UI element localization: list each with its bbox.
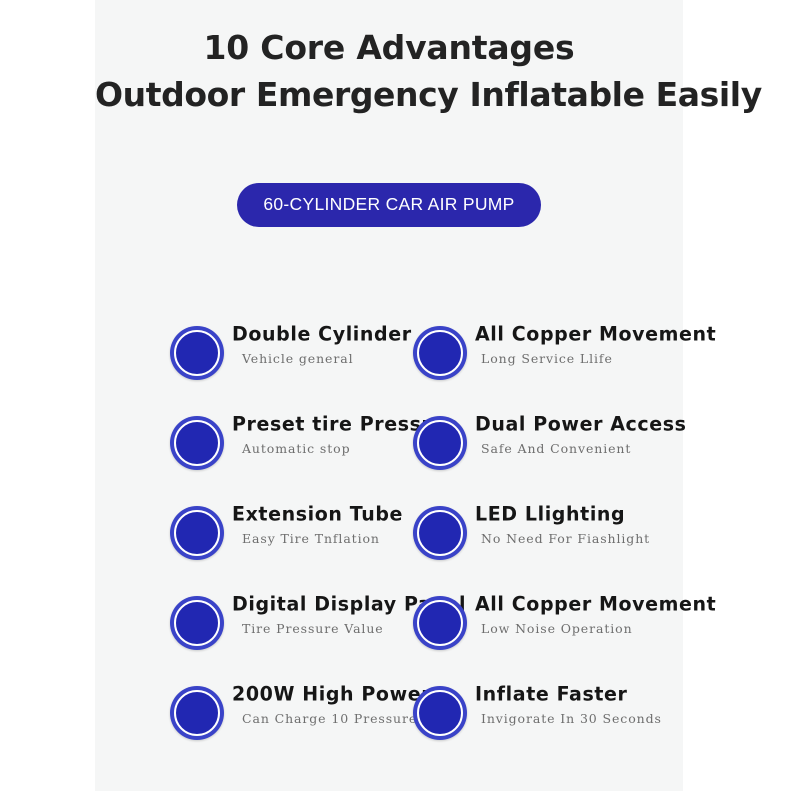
bullet-circle-icon [413,596,467,650]
feature-text-group: All Copper Movement Low Noise Operation [475,592,735,639]
bullet-circle-icon [170,326,224,380]
bullet-circle-icon [170,506,224,560]
content-panel: 10 Core Advantages Outdoor Emergency Inf… [95,0,683,791]
feature-row: 200W High Power Can Charge 10 Pressures … [95,682,683,772]
feature-title: LED Llighting [475,502,735,527]
feature-text-group: Inflate Faster Invigorate In 30 Seconds [475,682,735,729]
feature-row: Preset tire Pressure Automatic stop Dual… [95,412,683,502]
feature-subtitle: Safe And Convenient [475,439,735,459]
feature-title: All Copper Movement [475,592,735,617]
feature-row: Extension Tube Easy Tire Tnflation LED L… [95,502,683,592]
heading-line-1: 10 Core Advantages [95,26,683,70]
bullet-circle-icon [413,326,467,380]
bullet-circle-icon [413,686,467,740]
feature-title: Dual Power Access [475,412,735,437]
product-badge-container: 60-CYLINDER CAR AIR PUMP [95,183,683,227]
feature-subtitle: Invigorate In 30 Seconds [475,709,735,729]
product-badge: 60-CYLINDER CAR AIR PUMP [237,183,540,227]
feature-text-group: Dual Power Access Safe And Convenient [475,412,735,459]
feature-text-group: All Copper Movement Long Service Llife [475,322,735,369]
heading-line-2: Outdoor Emergency Inflatable Easily [95,70,683,120]
feature-item: All Copper Movement Low Noise Operation [413,592,713,682]
product-infographic-page: 10 Core Advantages Outdoor Emergency Inf… [0,0,800,800]
feature-item: Dual Power Access Safe And Convenient [413,412,713,502]
feature-item: LED Llighting No Need For Fiashlight [413,502,713,592]
bullet-circle-icon [170,686,224,740]
feature-title: All Copper Movement [475,322,735,347]
feature-text-group: LED Llighting No Need For Fiashlight [475,502,735,549]
feature-subtitle: Long Service Llife [475,349,735,369]
feature-item: All Copper Movement Long Service Llife [413,322,713,412]
bullet-circle-icon [413,416,467,470]
bullet-circle-icon [170,416,224,470]
bullet-circle-icon [170,596,224,650]
feature-list: Double Cylinder Vehicle general All Copp… [95,322,683,782]
heading-block: 10 Core Advantages Outdoor Emergency Inf… [95,26,683,120]
feature-subtitle: No Need For Fiashlight [475,529,735,549]
bullet-circle-icon [413,506,467,560]
feature-row: Double Cylinder Vehicle general All Copp… [95,322,683,412]
feature-subtitle: Low Noise Operation [475,619,735,639]
feature-row: Digital Display Panel Tire Pressure Valu… [95,592,683,682]
feature-title: Inflate Faster [475,682,735,707]
feature-item: Inflate Faster Invigorate In 30 Seconds [413,682,713,772]
